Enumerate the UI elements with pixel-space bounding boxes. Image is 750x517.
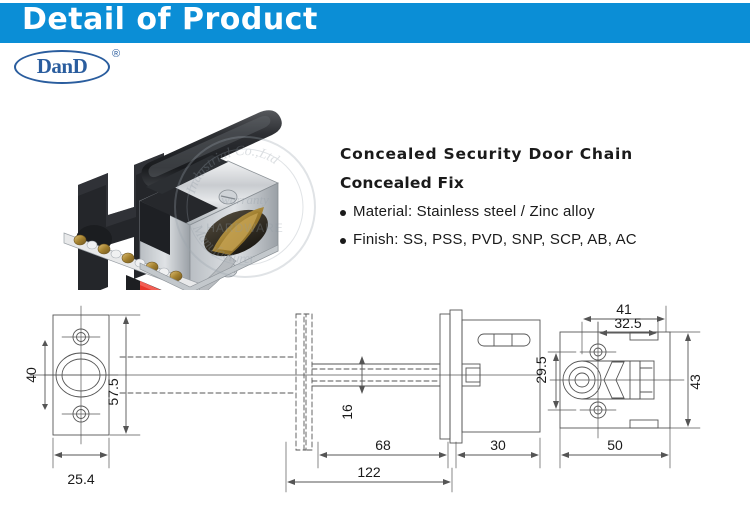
dim-label-122: 122 [357,464,381,480]
spec-material-text: Material: Stainless steel / Zinc alloy [353,203,595,220]
product-photo [22,55,322,290]
dim-label-16: 16 [339,404,355,420]
dim-label-30: 30 [490,437,506,453]
dim-right-plate-hole-span [548,352,576,410]
dim-label-29-5: 29.5 [533,356,549,383]
dim-label-25-4: 25.4 [67,471,94,487]
page-title: Detail of Product [22,5,318,35]
dim-label-40: 40 [23,367,39,383]
dim-label-43: 43 [687,374,703,390]
spec-item-material: Material: Stainless steel / Zinc alloy [340,203,740,220]
technical-drawing: 40 57.5 25.4 16 68 30 122 41 32.5 29.5 4… [0,292,750,517]
spec-finish-text: Finish: SS, PSS, PVD, SNP, SCP, AB, AC [353,231,637,248]
bullet-dot-icon [340,238,346,244]
dim-label-32-5: 32.5 [614,315,641,331]
product-description: Concealed Security Door Chain Concealed … [340,145,740,259]
spec-item-finish: Finish: SS, PSS, PVD, SNP, SCP, AB, AC [340,231,740,248]
drawing-middle-flange [296,314,312,450]
bullet-dot-icon [340,210,346,216]
dim-label-50: 50 [607,437,623,453]
drawing-right-body [440,310,540,443]
product-heading-primary: Concealed Security Door Chain [340,145,740,163]
product-heading-secondary: Concealed Fix [340,174,740,192]
dim-label-68: 68 [375,437,391,453]
dim-label-57-5: 57.5 [105,378,121,405]
drawing-right-faceplate [550,322,684,438]
